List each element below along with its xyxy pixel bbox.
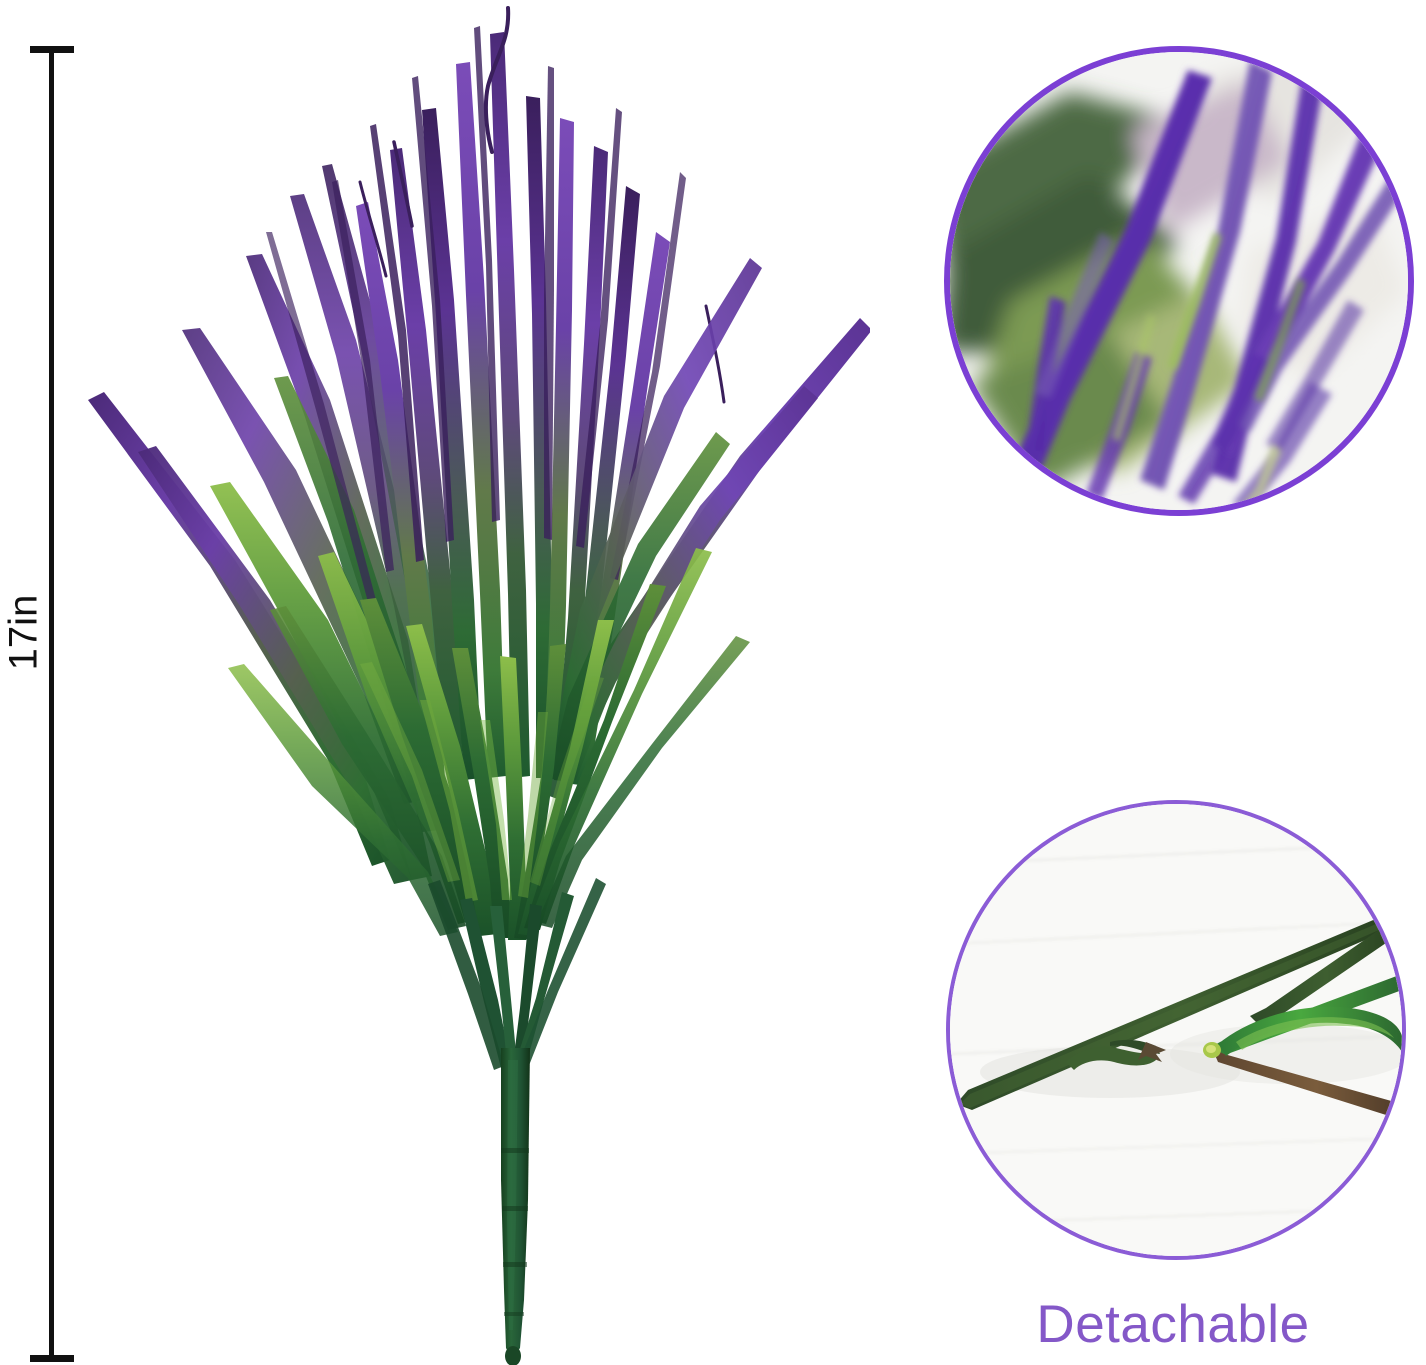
detail-view-detachable-closeup (946, 800, 1406, 1260)
leaf-macro-illustration (950, 52, 1408, 510)
product-plant-photo (60, 0, 870, 1365)
height-measurement-label: 17in (2, 583, 47, 683)
plant-illustration (60, 0, 870, 1365)
detachable-stem-illustration (950, 804, 1402, 1256)
leaf-closeup-image (950, 52, 1408, 510)
detachable-stem-image (950, 804, 1402, 1256)
product-image-canvas: 17in (0, 0, 1426, 1365)
ruler-vertical-line (49, 48, 54, 1361)
detachable-caption: Detachable (944, 1294, 1402, 1355)
detail-view-leaf-closeup (944, 46, 1414, 516)
